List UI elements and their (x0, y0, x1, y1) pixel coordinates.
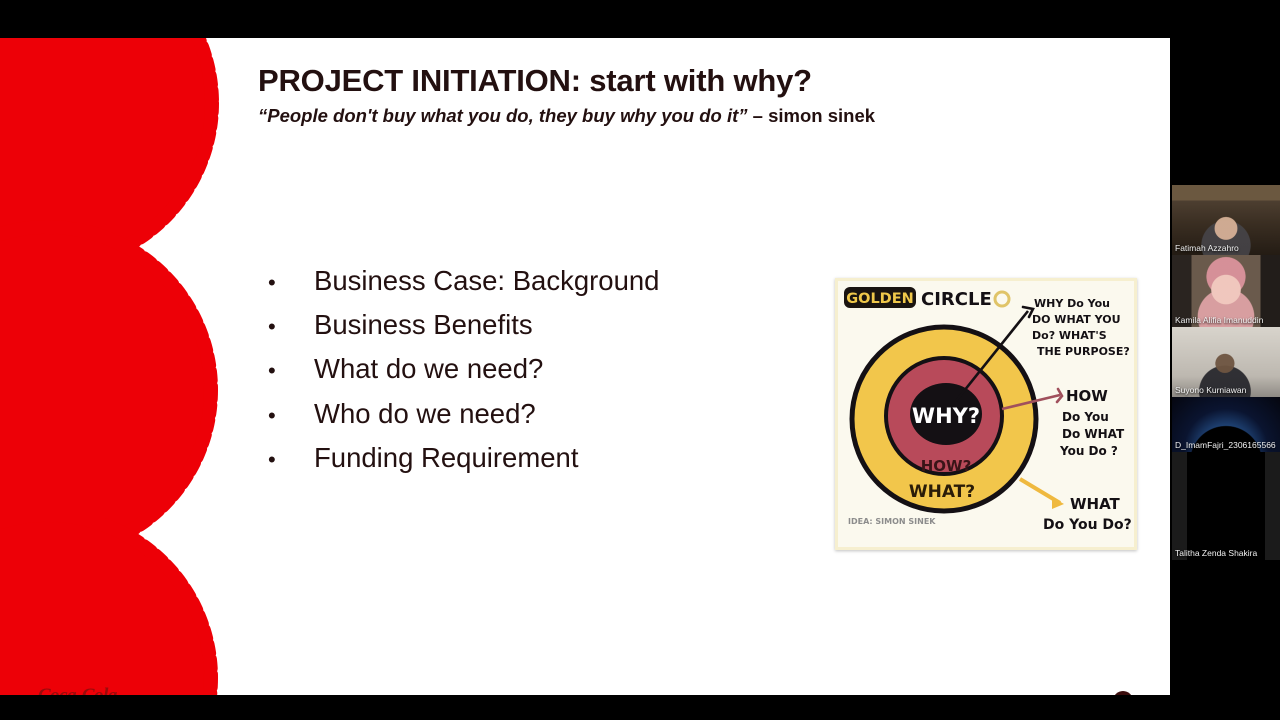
bullet-marker-icon: • (262, 405, 314, 427)
bullet-list: • Business Case: Background • Business B… (262, 263, 822, 484)
list-item: • Business Benefits (262, 307, 822, 342)
decorative-scallop-circle-middle (0, 220, 260, 560)
slide-end-dot (1113, 691, 1133, 695)
leader-arrow-what (1052, 497, 1064, 509)
subtitle-author: – simon sinek (748, 105, 876, 126)
participant-name: Talitha Zenda Shakira (1172, 547, 1280, 560)
circle-word-o-icon (995, 292, 1009, 306)
annotation-what-line-1: WHAT (1070, 495, 1121, 513)
coca-cola-wordmark: Coca-Cola (38, 685, 117, 695)
annotation-what-line-2: Do You Do? (1043, 517, 1132, 533)
participant-tile[interactable]: Kamila Alifia Imanuddin (1172, 255, 1280, 327)
annotation-why-line-4: THE PURPOSE? (1037, 345, 1130, 358)
annotation-why-line-1: WHY Do You (1034, 297, 1110, 310)
ring-label-why: WHY? (912, 404, 980, 428)
list-item-label: Business Benefits (314, 307, 533, 342)
zoom-meeting-screen: PROJECT INITIATION: start with why? “Peo… (0, 0, 1280, 720)
annotation-how-line-1: HOW (1066, 387, 1108, 405)
annotation-how-line-3: Do WHAT (1062, 427, 1125, 441)
circle-word-label: CIRCLE (921, 289, 992, 310)
bullet-marker-icon: • (262, 449, 314, 471)
participant-name: Kamila Alifia Imanuddin (1172, 314, 1280, 327)
figure-credit: IDEA: SIMON SINEK (848, 517, 936, 526)
list-item-label: What do we need? (314, 351, 543, 386)
subtitle: “People don't buy what you do, they buy … (258, 105, 1098, 127)
list-item-label: Business Case: Background (314, 263, 659, 298)
participant-tile[interactable]: Fatimah Azzahro (1172, 185, 1280, 255)
decorative-scallop-circle-bottom (0, 518, 260, 695)
annotation-how-line-2: Do You (1062, 410, 1109, 424)
shared-slide: PROJECT INITIATION: start with why? “Peo… (0, 38, 1170, 695)
list-item: • Who do we need? (262, 396, 822, 431)
coca-cola-europacific-partners-logo: Coca-Cola EUROPACIFIC PARTNERS (38, 686, 168, 695)
participant-filmstrip[interactable]: Fatimah Azzahro Kamila Alifia Imanuddin … (1172, 185, 1280, 560)
annotation-why-line-3: Do? WHAT'S (1032, 329, 1107, 342)
participant-video (1172, 452, 1280, 560)
subtitle-quote: “People don't buy what you do, they buy … (258, 105, 748, 126)
list-item-label: Funding Requirement (314, 440, 578, 475)
list-item: • Business Case: Background (262, 263, 822, 298)
participant-tile[interactable]: Talitha Zenda Shakira (1172, 452, 1280, 560)
bullet-marker-icon: • (262, 316, 314, 338)
participant-name: D_ImamFajri_2306165566 (1172, 439, 1280, 452)
participant-name: Fatimah Azzahro (1172, 242, 1280, 255)
bullet-marker-icon: • (262, 360, 314, 382)
annotation-why-line-2: DO WHAT YOU (1032, 313, 1121, 326)
page-title: PROJECT INITIATION: start with why? (258, 64, 1098, 98)
participant-tile[interactable]: D_ImamFajri_2306165566 (1172, 397, 1280, 452)
list-item: • What do we need? (262, 351, 822, 386)
bullet-marker-icon: • (262, 272, 314, 294)
golden-circle-figure: GOLDEN CIRCLE WHY? HOW? WHAT? (835, 278, 1137, 550)
golden-badge-label: GOLDEN (846, 291, 914, 307)
annotation-how-line-4: You Do ? (1059, 444, 1118, 458)
ring-label-how: HOW? (921, 457, 972, 475)
ring-label-what: WHAT? (909, 482, 975, 502)
participant-name: Suyono Kurniawan (1172, 384, 1280, 397)
title-block: PROJECT INITIATION: start with why? “Peo… (258, 64, 1098, 127)
list-item-label: Who do we need? (314, 396, 536, 431)
participant-tile[interactable]: Suyono Kurniawan (1172, 327, 1280, 397)
list-item: • Funding Requirement (262, 440, 822, 475)
